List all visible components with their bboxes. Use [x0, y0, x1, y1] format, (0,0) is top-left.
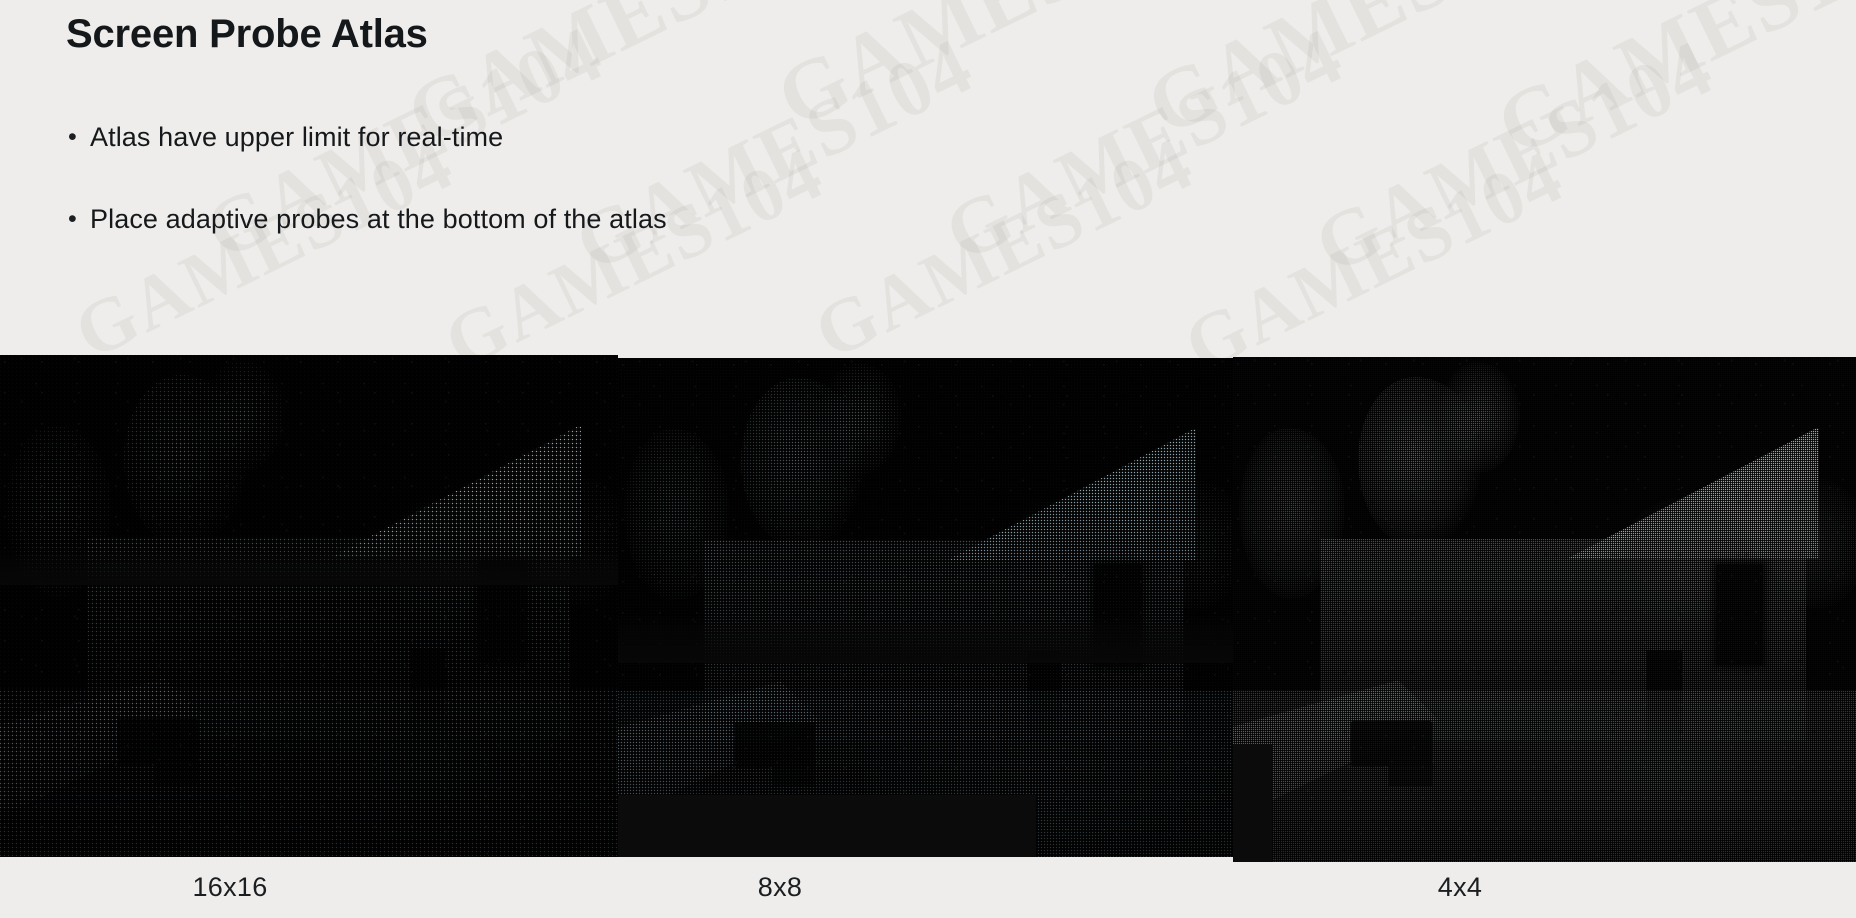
scene-content — [1233, 357, 1856, 862]
caption-row: 16x16 8x8 4x4 — [0, 872, 1856, 918]
probe-field-fade — [0, 548, 618, 585]
scene-content — [618, 358, 1233, 857]
probe-noise — [0, 355, 618, 857]
caption-8x8: 8x8 — [680, 872, 880, 903]
probe-field-fade — [618, 614, 1233, 663]
page-title: Screen Probe Atlas — [66, 12, 428, 57]
atlas-panel-4x4 — [1233, 357, 1856, 862]
slide-root: { "slide": { "title": "Screen Probe Atla… — [0, 0, 1856, 918]
bullet-text: Atlas have upper limit for real-time — [90, 120, 503, 154]
watermark-text: GAMES104 — [1302, 22, 1728, 292]
empty-atlas-region — [1233, 744, 1272, 862]
list-item: • Atlas have upper limit for real-time — [68, 120, 503, 154]
scene-content — [0, 355, 618, 857]
atlas-comparison-figure — [0, 290, 1856, 870]
watermark-text: GAMES104 — [562, 20, 988, 290]
empty-atlas-region — [618, 795, 1036, 857]
bullet-marker-icon: • — [68, 202, 90, 236]
watermark-text: GAMES104 — [1481, 0, 1856, 176]
probe-render-8x8 — [618, 358, 1233, 663]
watermark-text: GAMES104 — [1131, 0, 1589, 156]
probe-render-16x16 — [0, 355, 618, 585]
probe-noise — [618, 358, 1233, 857]
watermark-text: GAMES104 — [761, 0, 1219, 148]
caption-16x16: 16x16 — [130, 872, 330, 903]
watermark-text: GAMES104 — [932, 10, 1358, 280]
atlas-panel-16x16 — [0, 355, 618, 857]
atlas-panel-8x8 — [618, 358, 1233, 857]
probe-noise — [1233, 357, 1856, 862]
bullet-marker-icon: • — [68, 120, 90, 154]
caption-4x4: 4x4 — [1360, 872, 1560, 903]
list-item: • Place adaptive probes at the bottom of… — [68, 202, 667, 236]
bullet-text: Place adaptive probes at the bottom of t… — [90, 202, 667, 236]
probe-render-4x4 — [1233, 357, 1856, 862]
